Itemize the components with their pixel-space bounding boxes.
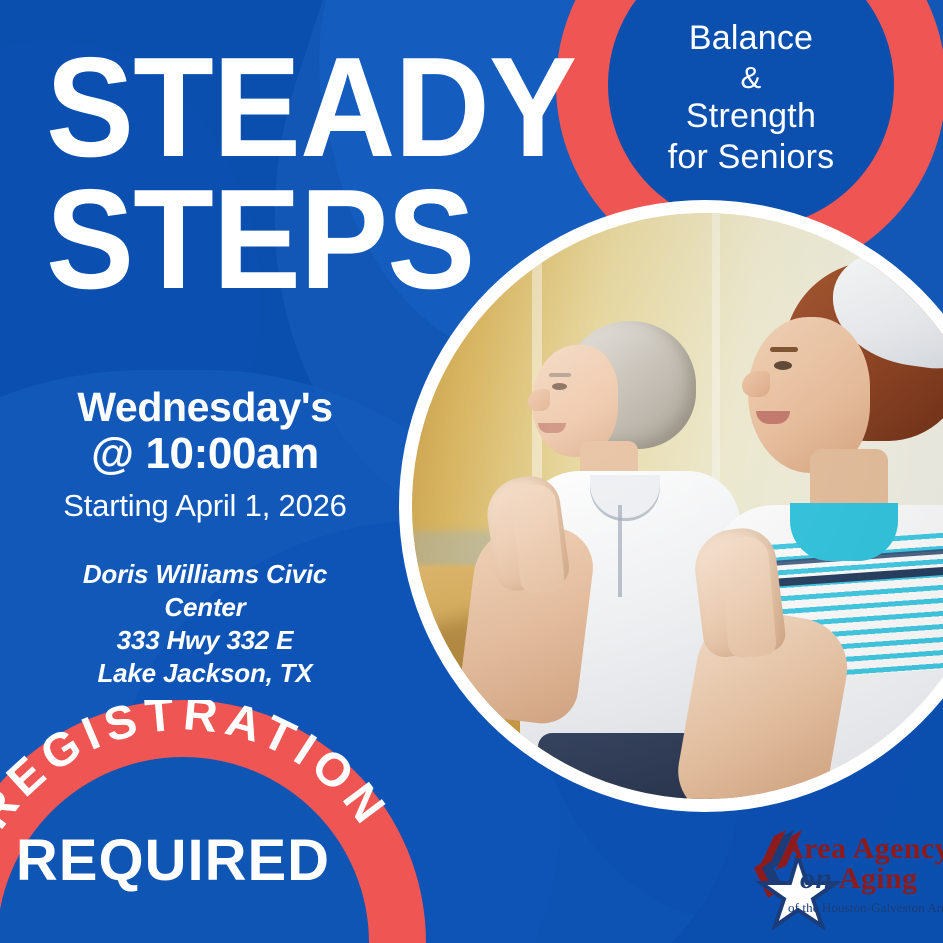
schedule-day: Wednesday's (40, 385, 370, 429)
venue-line-1: Doris Williams Civic (40, 558, 370, 591)
venue-line-4: Lake Jackson, TX (40, 657, 370, 690)
venue-block: Doris Williams Civic Center 333 Hwy 332 … (40, 558, 370, 690)
registration-arc-text: REGISTRATION (0, 700, 426, 943)
venue-line-2: Center (40, 591, 370, 624)
badge-line-strength: Strength (686, 97, 816, 135)
registration-required-label: REQUIRED (8, 827, 338, 894)
registration-arc-label: REGISTRATION (0, 700, 400, 838)
photo-circle-frame (399, 200, 943, 812)
woman-right-eyebrow (770, 347, 798, 352)
schedule-start-date: Starting April 1, 2026 (40, 485, 370, 527)
page-title: STEADY STEPS (46, 42, 455, 306)
logo-word-agency: Agency (853, 832, 943, 865)
woman-right-eye (774, 361, 792, 370)
venue-line-3: 333 Hwy 332 E (40, 624, 370, 657)
logo-word-area: Area (782, 832, 846, 865)
woman-left-eyebrow (549, 373, 571, 377)
schedule-block: Wednesday's @ 10:00am Starting April 1, … (40, 385, 370, 526)
logo-word-on: on (800, 862, 833, 895)
seniors-exercise-photo (412, 213, 943, 799)
woman-right-collar (790, 503, 898, 561)
area-agency-on-aging-logo: Area Agency on Aging of the Houston-Galv… (752, 826, 938, 930)
schedule-time: @ 10:00am (40, 429, 370, 478)
logo-line-2: on Aging (800, 862, 917, 896)
badge-line-balance: Balance (689, 19, 813, 57)
logo-line-1: Area Agency (782, 832, 943, 866)
balance-strength-text: Balance & Strength for Seniors (556, 18, 943, 178)
headline-line-2: STEPS (46, 174, 455, 306)
logo-word-aging: Aging (839, 862, 918, 895)
woman-right-nose (742, 371, 770, 397)
woman-left-nose (528, 389, 550, 411)
flyer-canvas: Balance & Strength for Seniors STEADY ST… (0, 0, 943, 943)
woman-left-placket (618, 505, 622, 597)
logo-subtitle: of the Houston-Galveston Area (788, 900, 943, 916)
woman-left-eye (552, 383, 567, 390)
badge-line-ampersand: & (556, 59, 943, 96)
badge-line-for-seniors: for Seniors (668, 138, 835, 176)
